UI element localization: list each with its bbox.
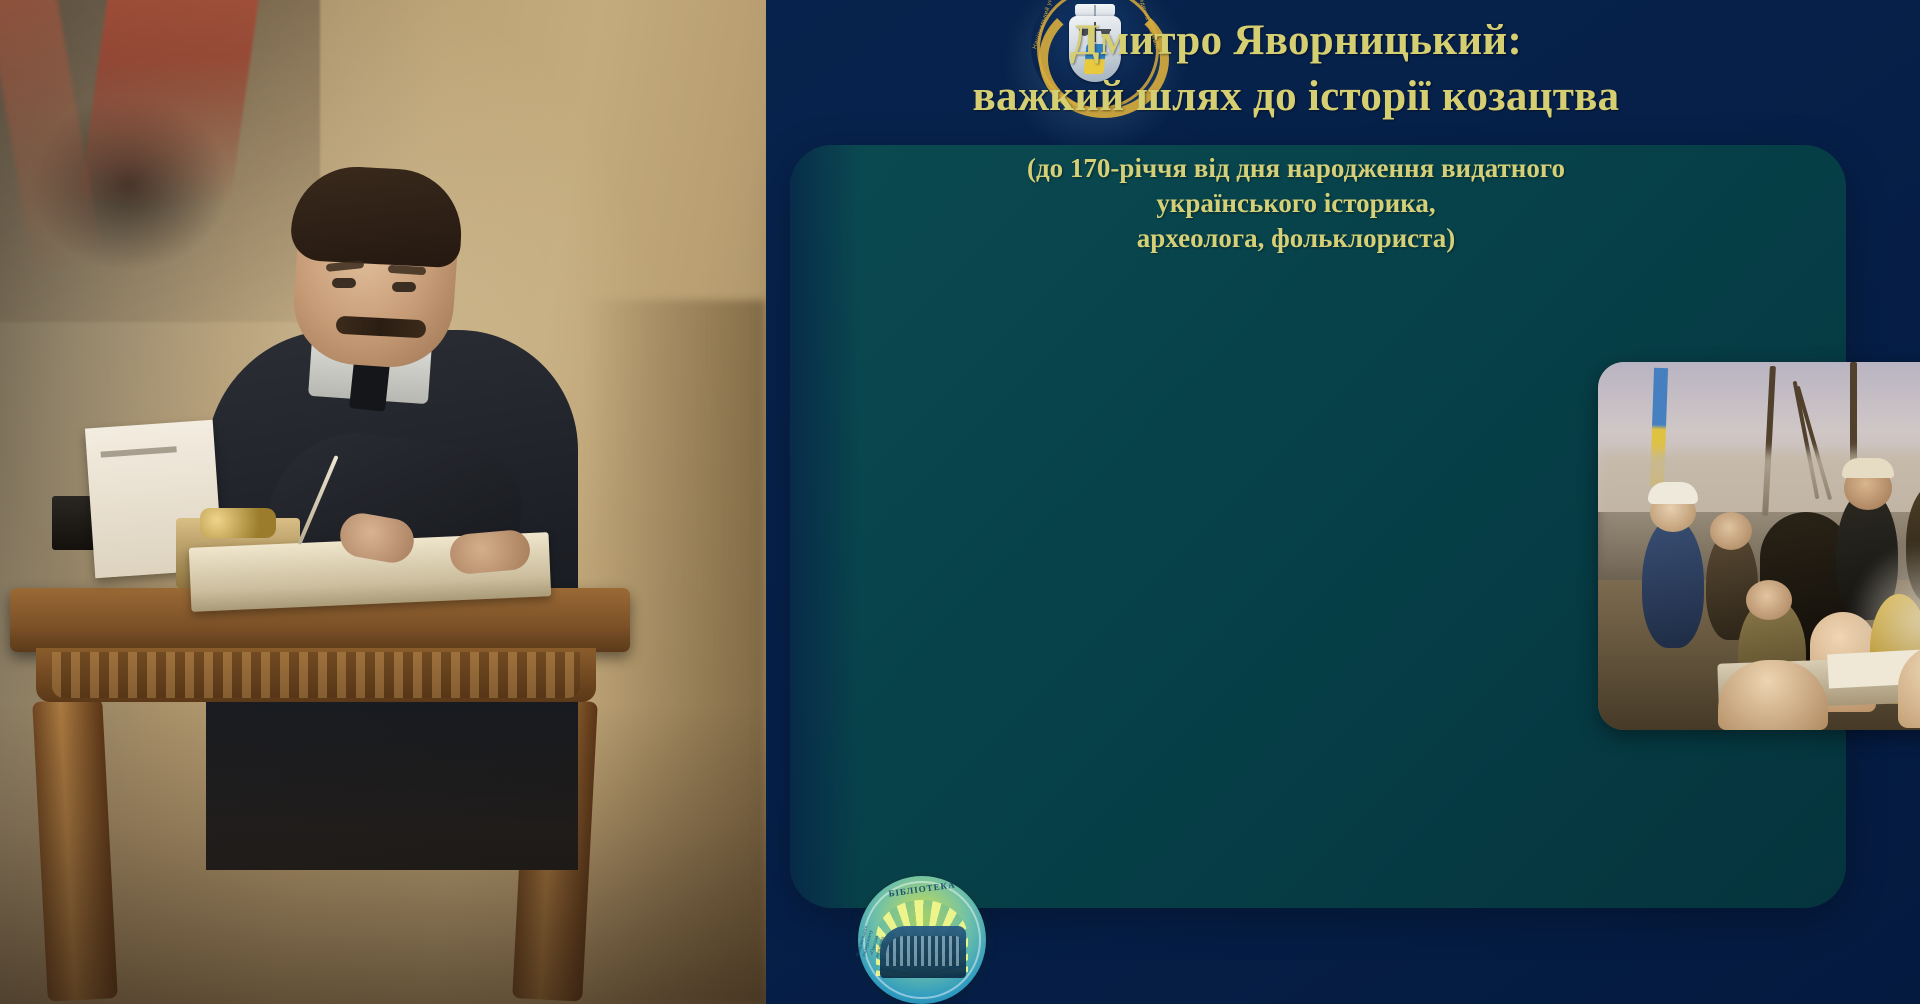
- figure-eye-left: [332, 278, 356, 288]
- painting-figure: [1842, 458, 1894, 478]
- subtitle-line3: археолога, фольклориста): [806, 221, 1786, 256]
- painting-figure: [1648, 482, 1698, 504]
- subtitle-block: (до 170-річчя від дня народження видатно…: [806, 151, 1786, 256]
- library-logo-icon: БІБЛІОТЕКА Національного університету «О…: [858, 876, 986, 1004]
- headline-block: Дмитро Яворницький: важкий шлях до істор…: [806, 16, 1786, 256]
- photo-vignette: [0, 704, 766, 1004]
- poster-root: Національний університет Одеська юридичн…: [0, 0, 1920, 1004]
- right-panel: Національний університет Одеська юридичн…: [766, 0, 1920, 1004]
- page-title-line1: Дмитро Яворницький:: [806, 16, 1786, 67]
- painting-figure: [1710, 512, 1752, 550]
- portrait-photo: [0, 0, 766, 1004]
- painting-figure: [1746, 580, 1792, 620]
- subtitle-line2: українського історика,: [806, 186, 1786, 221]
- page-title-line2: важкий шлях до історії козацтва: [806, 71, 1786, 123]
- desk-carving: [52, 652, 580, 698]
- ink-pots: [200, 508, 276, 538]
- subtitle-line1: (до 170-річчя від дня народження видатно…: [806, 151, 1786, 186]
- painting-figure: [1642, 518, 1704, 648]
- figure-eye-right: [392, 282, 416, 292]
- cossacks-painting: [1598, 362, 1920, 730]
